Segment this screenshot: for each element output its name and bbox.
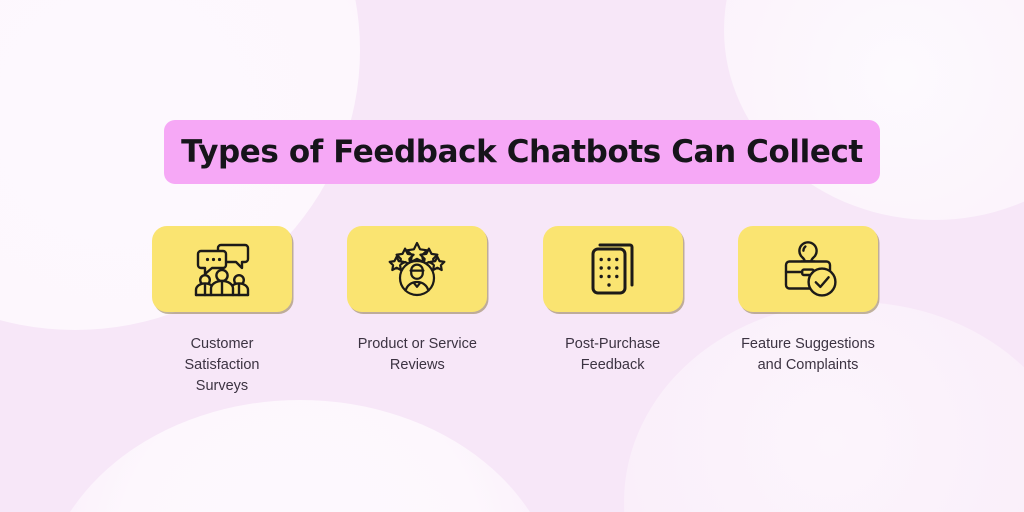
list-item-label: Product or Service Reviews: [358, 334, 477, 376]
list-item-feature-suggestions-and-complaints[interactable]: Feature Suggestions and Complaints: [738, 226, 878, 397]
list-item-product-or-service-reviews[interactable]: Product or Service Reviews: [347, 226, 487, 397]
background-blob-top-right: [724, 0, 1024, 220]
infographic-canvas: Types of Feedback Chatbots Can Collect: [0, 0, 1024, 512]
avatar-five-stars-icon: [388, 240, 446, 298]
icon-card-product-or-service-reviews[interactable]: [347, 226, 487, 312]
list-item-post-purchase-feedback[interactable]: Post-Purchase Feedback: [543, 226, 683, 397]
list-item-customer-satisfaction-surveys[interactable]: Customer Satisfaction Surveys: [152, 226, 292, 397]
title-banner: Types of Feedback Chatbots Can Collect: [164, 120, 880, 184]
briefcase-lightbulb-check-icon: [778, 240, 838, 298]
icon-card-customer-satisfaction-surveys[interactable]: [152, 226, 292, 312]
list-item-label: Feature Suggestions and Complaints: [741, 334, 875, 376]
page-title: Types of Feedback Chatbots Can Collect: [181, 134, 863, 170]
receipt-dots-icon: [588, 240, 638, 298]
people-speech-bubbles-icon: [191, 240, 253, 298]
feedback-types-list: Customer Satisfaction Surveys: [152, 226, 878, 397]
icon-card-feature-suggestions-and-complaints[interactable]: [738, 226, 878, 312]
icon-card-post-purchase-feedback[interactable]: [543, 226, 683, 312]
list-item-label: Customer Satisfaction Surveys: [152, 334, 292, 397]
list-item-label: Post-Purchase Feedback: [565, 334, 660, 376]
background-blob-bottom-left: [40, 400, 560, 512]
